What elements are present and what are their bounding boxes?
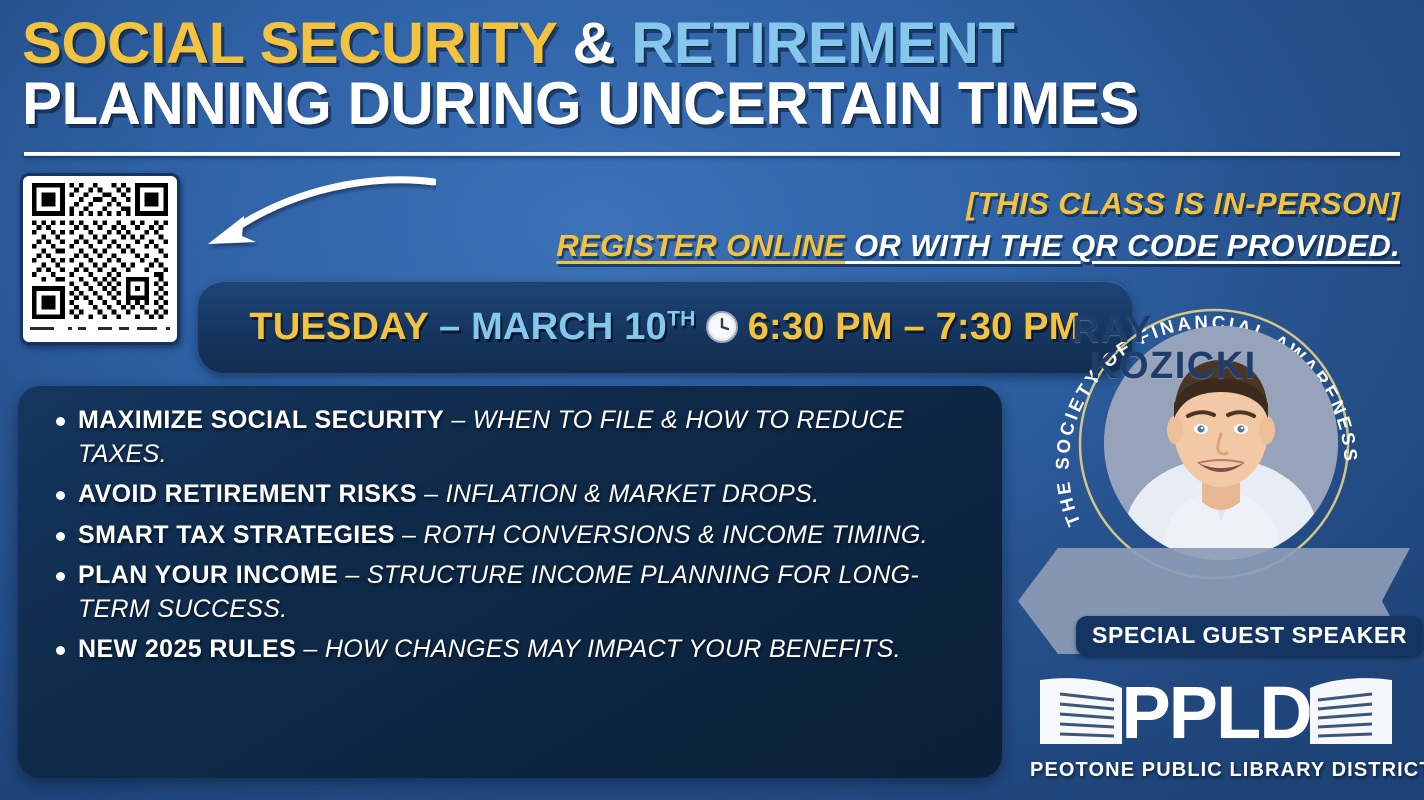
clock-icon <box>705 310 739 344</box>
topic-lead: NEW 2025 RULES <box>78 635 296 663</box>
ppld-logo: PPLD PEOTONE PUBLIC LIBRARY DISTRICT <box>1030 662 1402 784</box>
topic-lead: SMART TAX STRATEGIES <box>78 521 395 549</box>
event-month-day: MARCH 10 <box>471 306 667 348</box>
ppld-wordmark: PPLD <box>1121 671 1310 754</box>
event-day: TUESDAY <box>249 306 428 348</box>
topic-lead: AVOID RETIREMENT RISKS <box>78 480 417 508</box>
library-name: PEOTONE PUBLIC LIBRARY DISTRICT <box>1030 759 1402 782</box>
title-social-security: SOCIAL SECURITY <box>22 11 556 76</box>
event-time-start: 6:30 PM <box>748 306 893 348</box>
list-item: AVOID RETIREMENT RISKS – INFLATION & MAR… <box>44 478 976 512</box>
topic-desc: – INFLATION & MARKET DROPS. <box>417 480 819 508</box>
title-line-2: PLANNING DURING UNCERTAIN TIMES <box>22 75 1402 133</box>
topic-lead: PLAN YOUR INCOME <box>78 561 338 589</box>
qr-tick <box>166 327 170 330</box>
qr-tick <box>137 327 157 330</box>
speaker-last-name: KOZICKI <box>1090 348 1257 384</box>
topics-panel: MAXIMIZE SOCIAL SECURITY – WHEN TO FILE … <box>18 386 1002 778</box>
page-title: SOCIAL SECURITY & RETIREMENT PLANNING DU… <box>0 16 1424 132</box>
open-book-icon: PPLD <box>1030 662 1402 758</box>
title-line-1: SOCIAL SECURITY & RETIREMENT <box>22 16 1424 72</box>
event-date-ordinal: TH <box>667 306 696 330</box>
list-item: SMART TAX STRATEGIES – ROTH CONVERSIONS … <box>44 519 976 553</box>
speaker-name: RAY KOZICKI <box>1072 312 1257 384</box>
event-datetime-bar: TUESDAY – MARCH 10TH6:30 PM – 7:30 PM <box>198 281 1132 373</box>
topic-desc: – HOW CHANGES MAY IMPACT YOUR BENEFITS. <box>296 635 901 663</box>
title-divider <box>24 152 1400 156</box>
qr-caption-strip <box>30 323 170 333</box>
title-retirement: RETIREMENT <box>631 11 1014 76</box>
speaker-first-name: RAY <box>1072 312 1257 348</box>
topic-desc: – ROTH CONVERSIONS & INCOME TIMING. <box>395 521 928 549</box>
list-item: NEW 2025 RULES – HOW CHANGES MAY IMPACT … <box>44 633 976 667</box>
list-item: MAXIMIZE SOCIAL SECURITY – WHEN TO FILE … <box>44 404 976 471</box>
speaker-role-badge: SPECIAL GUEST SPEAKER <box>1076 616 1423 656</box>
qr-tick <box>68 327 73 330</box>
event-date-separator: – <box>428 306 471 348</box>
flyer-canvas: SOCIAL SECURITY & RETIREMENT PLANNING DU… <box>0 0 1424 800</box>
topic-lead: MAXIMIZE SOCIAL SECURITY <box>78 406 444 434</box>
speaker-section: THE SOCIETY OF FINANCIAL AWARENESS <box>1008 296 1424 800</box>
qr-tick <box>119 327 129 330</box>
qr-tick <box>98 327 113 330</box>
registration-note: [THIS CLASS IS IN-PERSON] REGISTER ONLIN… <box>340 186 1400 264</box>
qr-tick <box>30 327 54 330</box>
qr-tick <box>78 327 85 330</box>
register-instruction: REGISTER ONLINE OR WITH THE QR CODE PROV… <box>340 228 1400 264</box>
register-instruction-rest: OR WITH THE QR CODE PROVIDED. <box>845 228 1400 263</box>
topics-list: MAXIMIZE SOCIAL SECURITY – WHEN TO FILE … <box>44 404 976 667</box>
qr-code[interactable] <box>30 183 170 319</box>
event-datetime-text: TUESDAY – MARCH 10TH6:30 PM – 7:30 PM <box>249 306 1080 349</box>
qr-code-card[interactable] <box>20 173 180 345</box>
list-item: PLAN YOUR INCOME – STRUCTURE INCOME PLAN… <box>44 559 976 626</box>
event-time-separator: – <box>893 306 936 348</box>
in-person-note: [THIS CLASS IS IN-PERSON] <box>340 186 1400 222</box>
register-online-link[interactable]: REGISTER ONLINE <box>556 228 845 263</box>
title-ampersand: & <box>556 11 631 76</box>
